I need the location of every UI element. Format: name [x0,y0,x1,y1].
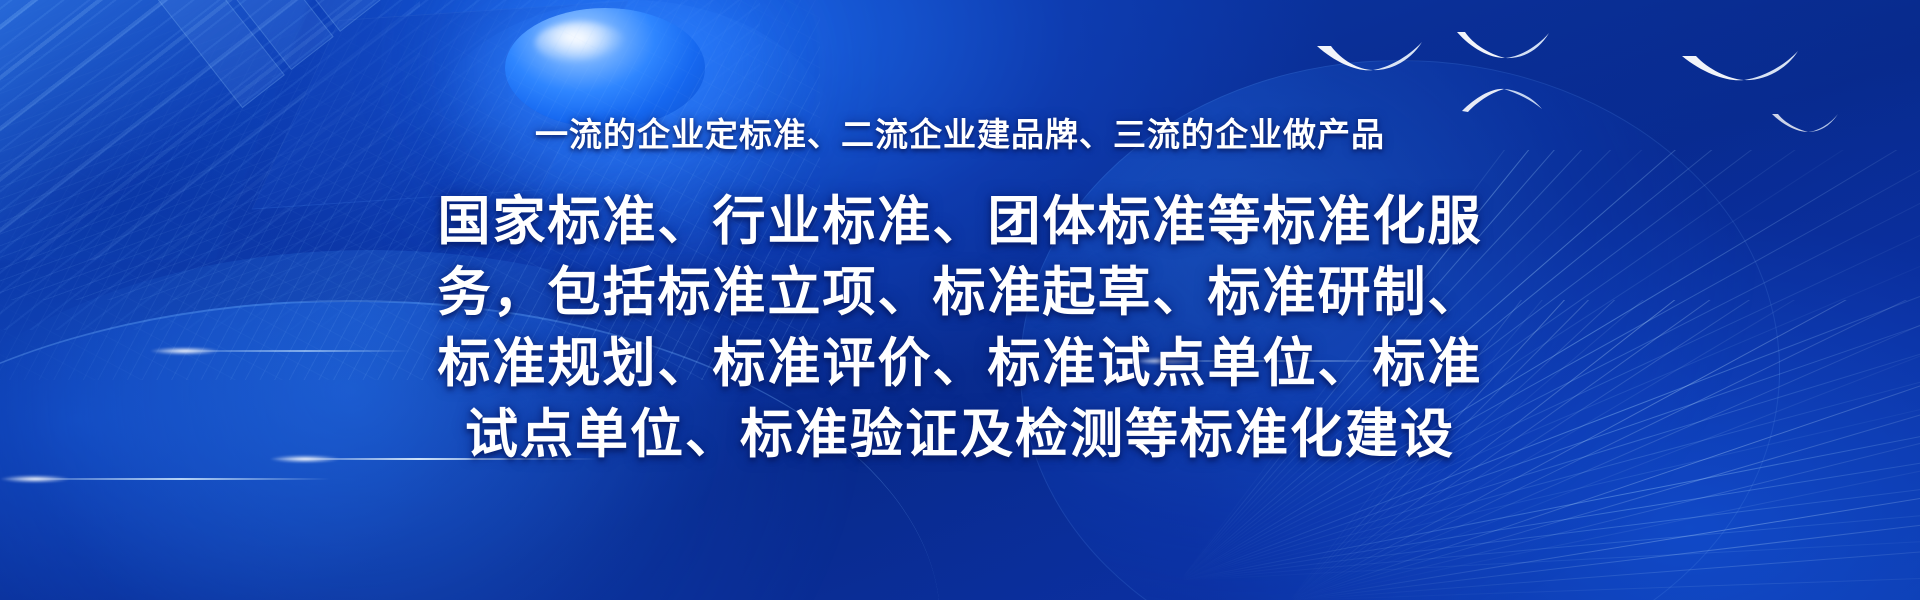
banner-tagline: 一流的企业定标准、二流企业建品牌、三流的企业做产品 [0,115,1920,155]
seagull-silhouette-icon [1680,48,1800,86]
seagull-silhouette-icon [1455,30,1551,64]
light-streak [0,478,330,480]
seagull-silhouette-icon [1460,85,1544,115]
headline-line: 标准规划、标准评价、标准试点单位、标准 [360,328,1560,399]
banner-headline: 国家标准、行业标准、团体标准等标准化服 务，包括标准立项、标准起草、标准研制、 … [360,186,1560,470]
parallelogram-shape [251,0,628,209]
headline-line: 国家标准、行业标准、团体标准等标准化服 [360,186,1560,257]
promotional-banner: 一流的企业定标准、二流企业建品牌、三流的企业做产品 国家标准、行业标准、团体标准… [0,0,1920,600]
orb-highlight [535,22,627,64]
seagull-silhouette-icon [1315,40,1425,76]
headline-line: 试点单位、标准验证及检测等标准化建设 [360,399,1560,470]
headline-line: 务，包括标准立项、标准起草、标准研制、 [360,257,1560,328]
glowing-ellipse-icon [505,8,705,128]
